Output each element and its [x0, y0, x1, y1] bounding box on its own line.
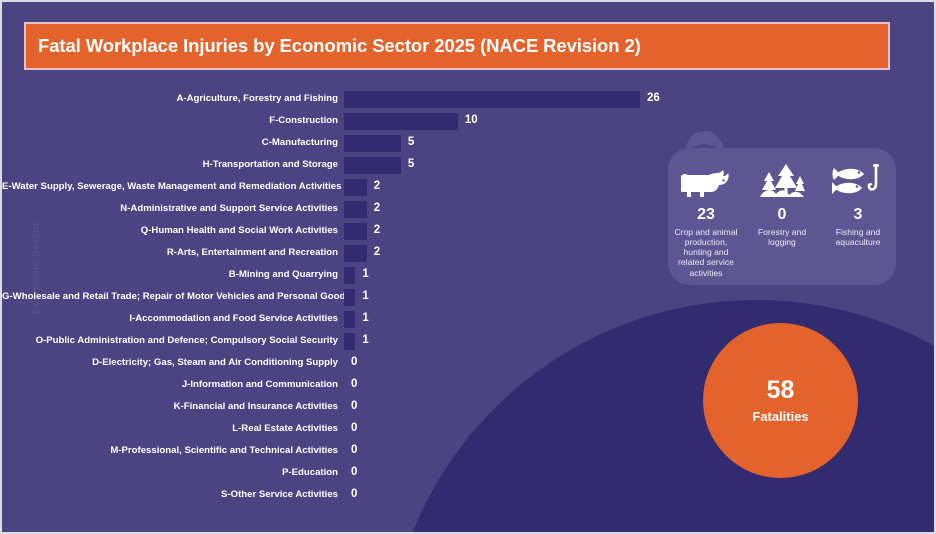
bar [344, 135, 401, 152]
breakdown-caption: Fishing and aquaculture [820, 227, 895, 247]
bar-category-label: C-Manufacturing [2, 138, 344, 148]
bar-category-label: I-Accommodation and Food Service Activit… [2, 314, 344, 324]
bar-row: E-Water Supply, Sewerage, Waste Manageme… [2, 176, 702, 198]
bar-row: C-Manufacturing5 [2, 132, 702, 154]
bar-category-label: M-Professional, Scientific and Technical… [2, 446, 344, 456]
bar-category-label: J-Information and Communication [2, 380, 344, 390]
sector-breakdown-panel: 23 Crop and animal production, hunting a… [668, 148, 896, 285]
bar-row: F-Construction10 [2, 110, 702, 132]
bar-chart: A-Agriculture, Forestry and Fishing26F-C… [2, 88, 702, 506]
bar-value-label: 0 [344, 401, 357, 413]
bar-row: A-Agriculture, Forestry and Fishing26 [2, 88, 702, 110]
bar-row: N-Administrative and Support Service Act… [2, 198, 702, 220]
fishing-icon [832, 162, 884, 204]
bar-row: P-Education0 [2, 462, 702, 484]
bar-row: D-Electricity; Gas, Steam and Air Condit… [2, 352, 702, 374]
bar-track: 0 [344, 352, 357, 374]
bar-row: M-Professional, Scientific and Technical… [2, 440, 702, 462]
trees-icon [758, 162, 806, 204]
bar-row: K-Financial and Insurance Activities0 [2, 396, 702, 418]
bar-track: 2 [344, 242, 380, 264]
bar-track: 0 [344, 396, 357, 418]
bar-track: 0 [344, 374, 357, 396]
dashboard-page: Fatal Workplace Injuries by Economic Sec… [0, 0, 936, 534]
bar-row: L-Real Estate Activities0 [2, 418, 702, 440]
breakdown-item-fishing-aquaculture: 3 Fishing and aquaculture [820, 162, 895, 285]
page-title: Fatal Workplace Injuries by Economic Sec… [26, 35, 641, 57]
bar-track: 2 [344, 176, 380, 198]
bar-row: R-Arts, Entertainment and Recreation2 [2, 242, 702, 264]
breakdown-value: 23 [697, 207, 715, 223]
breakdown-caption: Forestry and logging [744, 227, 819, 247]
breakdown-value: 0 [778, 207, 787, 223]
bar-category-label: A-Agriculture, Forestry and Fishing [2, 94, 344, 104]
bar-track: 2 [344, 220, 380, 242]
kpi-label: Fatalities [752, 410, 808, 423]
bar-value-label: 2 [367, 225, 380, 237]
bar-row: J-Information and Communication0 [2, 374, 702, 396]
bar-category-label: P-Education [2, 468, 344, 478]
bar-track: 1 [344, 286, 369, 308]
bar-track: 1 [344, 308, 369, 330]
bar-value-label: 1 [355, 269, 368, 281]
bar-track: 5 [344, 132, 414, 154]
bar-track: 1 [344, 330, 369, 352]
bar-row: Q-Human Health and Social Work Activitie… [2, 220, 702, 242]
bar [344, 91, 640, 108]
bar-row: B-Mining and Quarrying1 [2, 264, 702, 286]
bar-value-label: 26 [640, 93, 660, 105]
bar-track: 26 [344, 88, 660, 110]
bar-row: S-Other Service Activities0 [2, 484, 702, 506]
bar-value-label: 5 [401, 159, 414, 171]
bar-value-label: 0 [344, 379, 357, 391]
bar-row: H-Transportation and Storage5 [2, 154, 702, 176]
bar-track: 0 [344, 484, 357, 506]
bar-row: I-Accommodation and Food Service Activit… [2, 308, 702, 330]
bar-category-label: K-Financial and Insurance Activities [2, 402, 344, 412]
bar-category-label: E-Water Supply, Sewerage, Waste Manageme… [2, 182, 344, 192]
bar [344, 245, 367, 262]
bar-value-label: 1 [355, 335, 368, 347]
bar-category-label: F-Construction [2, 116, 344, 126]
bar [344, 289, 355, 306]
bar-value-label: 0 [344, 357, 357, 369]
bar-value-label: 1 [355, 291, 368, 303]
bar-value-label: 1 [355, 313, 368, 325]
bar-category-label: L-Real Estate Activities [2, 424, 344, 434]
bar-row: O-Public Administration and Defence; Com… [2, 330, 702, 352]
bar-category-label: R-Arts, Entertainment and Recreation [2, 248, 344, 258]
bar-category-label: D-Electricity; Gas, Steam and Air Condit… [2, 358, 344, 368]
bar-track: 5 [344, 154, 414, 176]
bar-value-label: 10 [458, 115, 478, 127]
bar-value-label: 0 [344, 489, 357, 501]
kpi-value: 58 [767, 378, 795, 403]
bar-category-label: Q-Human Health and Social Work Activitie… [2, 226, 344, 236]
bar-category-label: S-Other Service Activities [2, 490, 344, 500]
bar-value-label: 0 [344, 467, 357, 479]
title-banner: Fatal Workplace Injuries by Economic Sec… [24, 22, 890, 70]
bar-track: 2 [344, 198, 380, 220]
bar [344, 223, 367, 240]
bar [344, 267, 355, 284]
bar-category-label: G-Wholesale and Retail Trade; Repair of … [2, 292, 344, 302]
breakdown-value: 3 [854, 207, 863, 223]
bar-value-label: 0 [344, 445, 357, 457]
bar-track: 1 [344, 264, 369, 286]
bar-category-label: H-Transportation and Storage [2, 160, 344, 170]
bar-value-label: 2 [367, 181, 380, 193]
bar-row: G-Wholesale and Retail Trade; Repair of … [2, 286, 702, 308]
bar-track: 0 [344, 440, 357, 462]
bar [344, 311, 355, 328]
breakdown-item-crop-animal: 23 Crop and animal production, hunting a… [668, 162, 743, 285]
bar-category-label: N-Administrative and Support Service Act… [2, 204, 344, 214]
bar-track: 0 [344, 418, 357, 440]
bar [344, 113, 458, 130]
bar-track: 10 [344, 110, 478, 132]
bar-value-label: 2 [367, 247, 380, 259]
bar [344, 201, 367, 218]
bar [344, 333, 355, 350]
bar-category-label: B-Mining and Quarrying [2, 270, 344, 280]
cow-icon [680, 162, 732, 204]
bar-value-label: 0 [344, 423, 357, 435]
bar-value-label: 5 [401, 137, 414, 149]
breakdown-caption: Crop and animal production, hunting and … [668, 227, 743, 278]
total-fatalities-kpi: 58 Fatalities [703, 323, 858, 478]
bar-track: 0 [344, 462, 357, 484]
breakdown-item-forestry-logging: 0 Forestry and logging [744, 162, 819, 285]
bar [344, 179, 367, 196]
bar-category-label: O-Public Administration and Defence; Com… [2, 336, 344, 346]
bar [344, 157, 401, 174]
bar-value-label: 2 [367, 203, 380, 215]
